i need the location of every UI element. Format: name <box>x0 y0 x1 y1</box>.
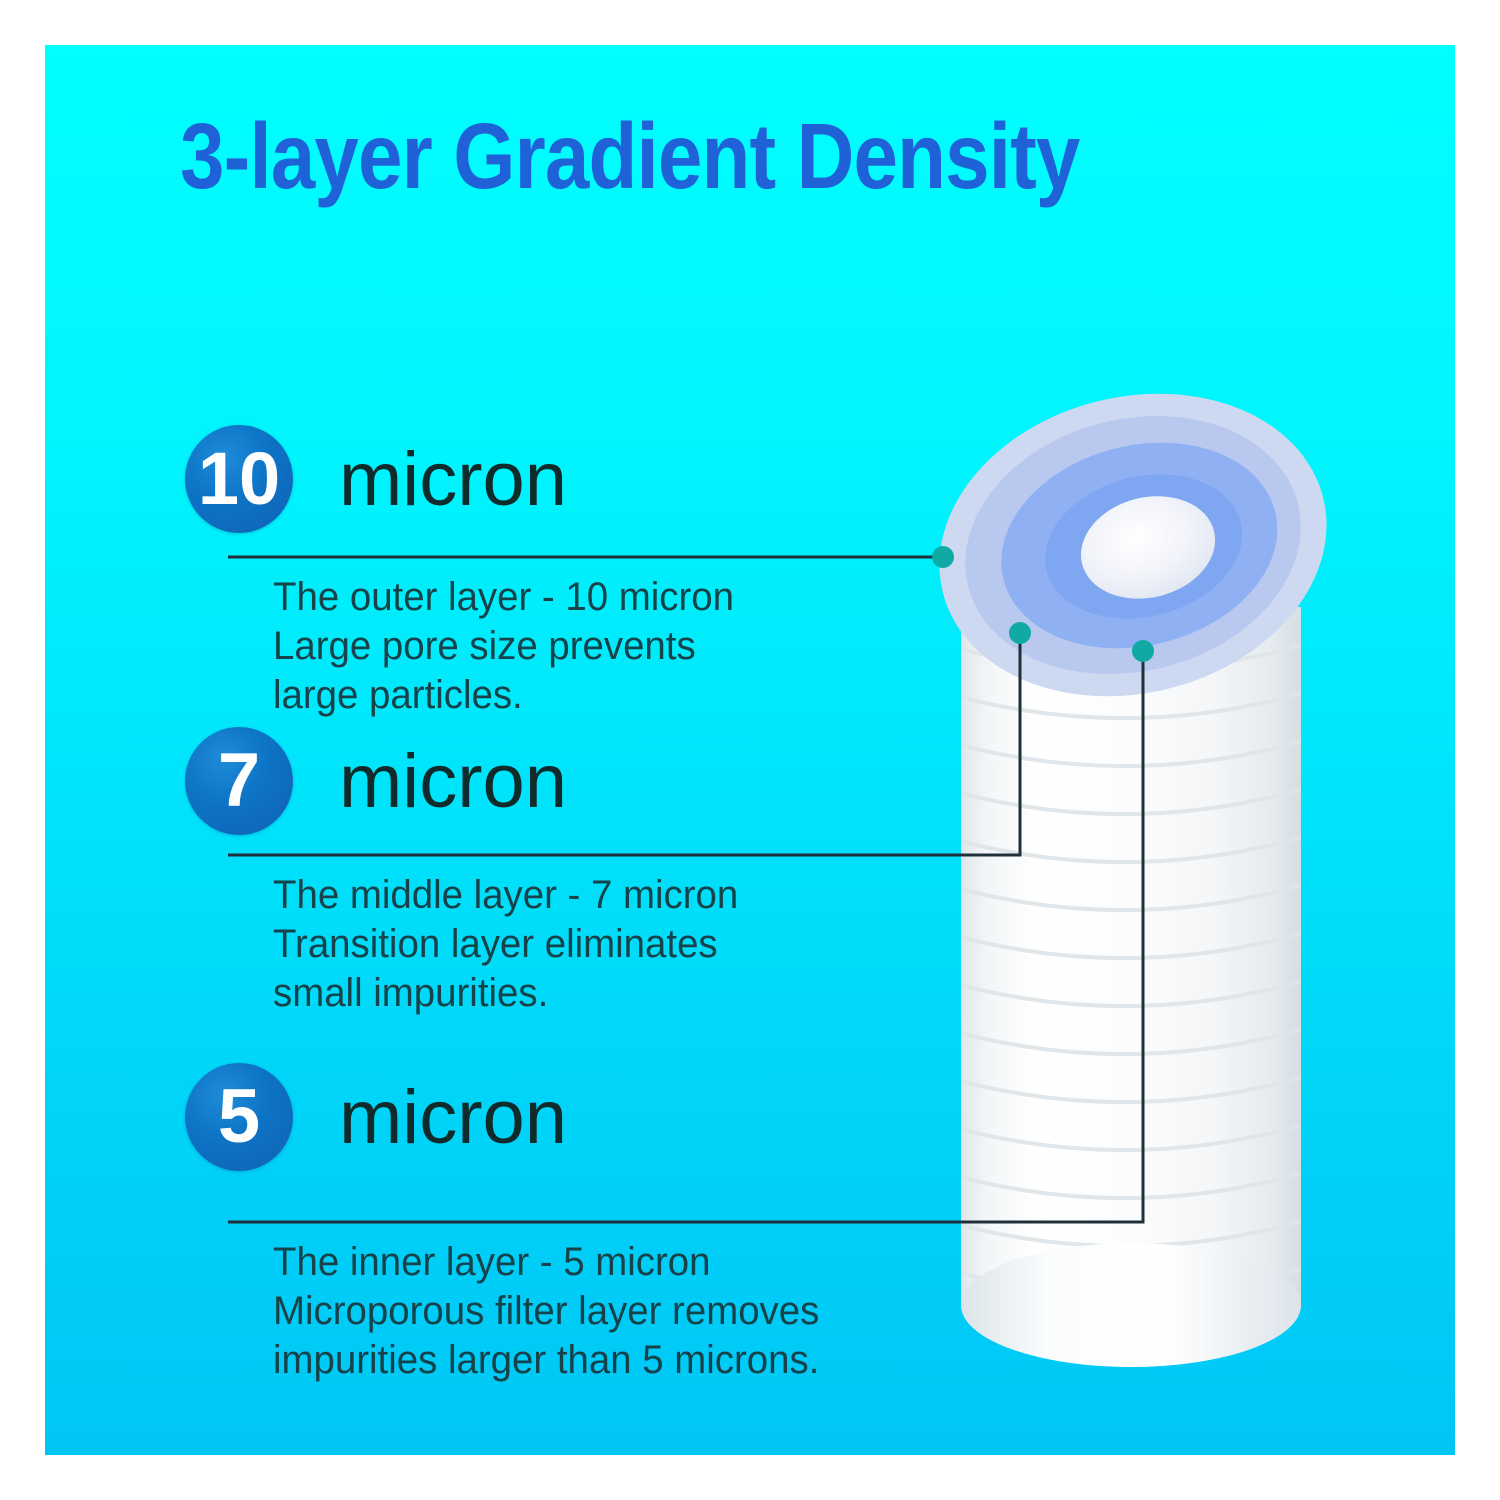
unit-label-5-micron: micron <box>339 1074 567 1161</box>
layer-heading-10-micron: 10 micron <box>185 425 567 533</box>
description-7-micron: The middle layer - 7 micron Transition l… <box>273 871 738 1018</box>
badge-7-micron: 7 <box>185 727 293 835</box>
infographic-poster: 3-layer Gradient Density <box>0 0 1500 1500</box>
badge-10-micron: 10 <box>185 425 293 533</box>
description-10-micron: The outer layer - 10 micron Large pore s… <box>273 573 734 720</box>
poster-canvas: 3-layer Gradient Density <box>45 45 1455 1455</box>
filter-cartridge-illustration <box>865 345 1385 1405</box>
layer-heading-5-micron: 5 micron <box>185 1063 567 1171</box>
unit-label-7-micron: micron <box>339 738 567 825</box>
page-title: 3-layer Gradient Density <box>180 108 1212 206</box>
layer-heading-7-micron: 7 micron <box>185 727 567 835</box>
cartridge-base <box>961 1243 1301 1367</box>
description-5-micron: The inner layer - 5 micron Microporous f… <box>273 1238 819 1385</box>
unit-label-10-micron: micron <box>339 436 567 523</box>
badge-5-micron: 5 <box>185 1063 293 1171</box>
